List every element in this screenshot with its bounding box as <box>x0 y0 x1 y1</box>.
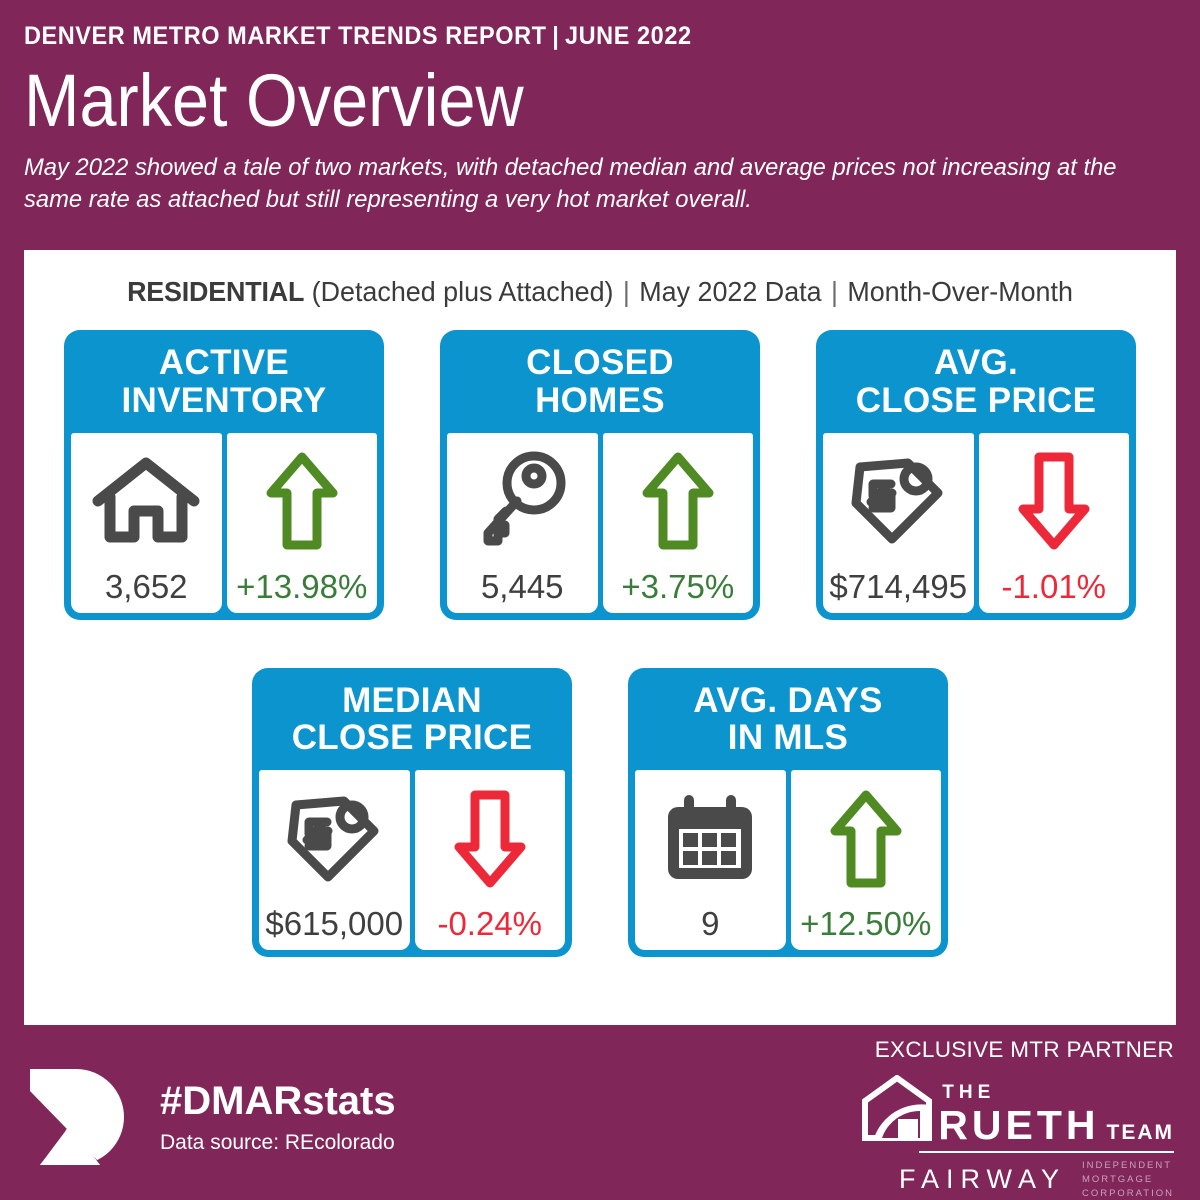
panel-heading-comparison: Month-Over-Month <box>847 276 1073 307</box>
rueth-name-label: RUETH <box>938 1105 1099 1146</box>
page-subtitle: May 2022 showed a tale of two markets, w… <box>24 152 1125 217</box>
card-value-cell: 9 <box>635 770 786 950</box>
kicker-separator: | <box>547 22 565 51</box>
card-trend-cell: +13.98% <box>227 433 378 613</box>
card-change: -1.01% <box>1001 570 1106 607</box>
rueth-wordmark: THE RUETH TEAM <box>938 1083 1174 1146</box>
fairway-subtitle-line-1: INDEPENDENT <box>1082 1159 1174 1173</box>
report-header: DENVER METRO MARKET TRENDS REPORT|JUNE 2… <box>0 0 1200 216</box>
card-title-line-1: AVG. <box>826 344 1126 382</box>
rueth-logo-top: THE RUETH TEAM <box>860 1075 1174 1146</box>
arrow-down-icon <box>979 433 1130 570</box>
card-title-line-2: CLOSE PRICE <box>262 719 562 757</box>
card-title-line-1: MEDIAN <box>262 682 562 720</box>
card-title-line-1: AVG. DAYS <box>638 682 938 720</box>
rueth-divider <box>919 1151 1174 1153</box>
fairway-subtitle-line-2: MORTGAGE <box>1082 1173 1174 1187</box>
report-kicker: DENVER METRO MARKET TRENDS REPORT|JUNE 2… <box>24 22 1107 51</box>
panel-heading-separator-2: | <box>829 276 840 307</box>
stat-card-avg-close-price[interactable]: AVG. CLOSE PRICE <box>816 330 1136 620</box>
card-value: 3,652 <box>105 570 188 607</box>
rueth-the-label: THE <box>942 1083 995 1102</box>
card-title: ACTIVE INVENTORY <box>64 330 384 433</box>
footer-text-block: #DMARstats Data source: REcolorado <box>160 1081 396 1153</box>
arrow-down-icon <box>415 770 566 907</box>
house-icon <box>71 433 222 570</box>
card-trend-cell: +12.50% <box>791 770 942 950</box>
stat-card-grid: ACTIVE INVENTORY 3,652 <box>24 330 1176 957</box>
fairway-row: FAIRWAY INDEPENDENT MORTGAGE CORPORATION <box>899 1159 1174 1200</box>
card-title-line-2: HOMES <box>450 382 750 420</box>
panel-heading-separator-1: | <box>621 276 632 307</box>
footer-partner: EXCLUSIVE MTR PARTNER THE RUETH TEAM <box>860 1037 1174 1200</box>
stat-card-closed-homes[interactable]: CLOSED HOMES <box>440 330 760 620</box>
card-title-line-2: CLOSE PRICE <box>826 382 1126 420</box>
card-change: -0.24% <box>437 907 542 944</box>
arrow-up-icon <box>791 770 942 907</box>
fairway-label: FAIRWAY <box>899 1164 1066 1195</box>
calendar-icon <box>635 770 786 907</box>
rueth-main-row: RUETH TEAM <box>938 1105 1174 1146</box>
card-title-line-1: CLOSED <box>450 344 750 382</box>
stat-card-avg-days-in-mls[interactable]: AVG. DAYS IN MLS <box>628 668 948 958</box>
card-title: CLOSED HOMES <box>440 330 760 433</box>
card-value-cell: $714,495 <box>823 433 974 613</box>
stat-card-row-1: ACTIVE INVENTORY 3,652 <box>24 330 1176 620</box>
data-source-label: Data source: REcolorado <box>160 1132 396 1153</box>
card-title: AVG. CLOSE PRICE <box>816 330 1136 433</box>
card-value: $714,495 <box>829 570 967 607</box>
panel-heading: RESIDENTIAL (Detached plus Attached) | M… <box>47 250 1153 308</box>
panel-heading-scope: (Detached plus Attached) <box>312 276 614 307</box>
card-trend-cell: +3.75% <box>603 433 754 613</box>
card-title: MEDIAN CLOSE PRICE <box>252 668 572 771</box>
hashtag-label: #DMARstats <box>160 1081 396 1121</box>
key-icon <box>447 433 598 570</box>
kicker-issue-date: JUNE 2022 <box>565 22 692 50</box>
stat-card-median-close-price[interactable]: MEDIAN CLOSE PRICE <box>252 668 572 958</box>
card-value-cell: $615,000 <box>259 770 410 950</box>
dmar-logo-icon <box>24 1061 136 1173</box>
price-tag-dollar-icon <box>259 770 410 907</box>
panel-heading-period: May 2022 Data <box>639 276 821 307</box>
stats-panel: RESIDENTIAL (Detached plus Attached) | M… <box>24 250 1176 1025</box>
card-title-line-2: INVENTORY <box>74 382 374 420</box>
card-trend-cell: -0.24% <box>415 770 566 950</box>
card-body: 9 +12.50% <box>635 770 941 950</box>
card-value-cell: 5,445 <box>447 433 598 613</box>
card-title-line-1: ACTIVE <box>74 344 374 382</box>
page-title: Market Overview <box>24 65 1061 138</box>
kicker-report-name: DENVER METRO MARKET TRENDS REPORT <box>24 22 547 50</box>
card-title-line-2: IN MLS <box>638 719 938 757</box>
card-change: +12.50% <box>800 907 931 944</box>
partner-label: EXCLUSIVE MTR PARTNER <box>860 1037 1174 1063</box>
card-change: +13.98% <box>236 570 367 607</box>
report-footer: #DMARstats Data source: REcolorado EXCLU… <box>0 1025 1200 1200</box>
fairway-subtitle: INDEPENDENT MORTGAGE CORPORATION <box>1082 1159 1174 1200</box>
rueth-team-label: TEAM <box>1107 1122 1175 1143</box>
card-value: 9 <box>701 907 719 944</box>
card-trend-cell: -1.01% <box>979 433 1130 613</box>
arrow-up-icon <box>227 433 378 570</box>
arrow-up-icon <box>603 433 754 570</box>
card-body: $714,495 -1.01% <box>823 433 1129 613</box>
card-body: 3,652 +13.98% <box>71 433 377 613</box>
card-value: $615,000 <box>265 907 403 944</box>
stat-card-row-2: MEDIAN CLOSE PRICE <box>24 668 1176 958</box>
card-body: 5,445 +3.75% <box>447 433 753 613</box>
card-change: +3.75% <box>621 570 734 607</box>
card-body: $615,000 -0.24% <box>259 770 565 950</box>
fairway-subtitle-line-3: CORPORATION <box>1082 1187 1174 1200</box>
rueth-team-logo: THE RUETH TEAM FAIRWAY INDEPENDENT MORTG… <box>860 1075 1174 1200</box>
footer-branding: #DMARstats Data source: REcolorado <box>24 1061 396 1173</box>
rueth-house-icon <box>860 1075 934 1146</box>
price-tag-dollar-icon <box>823 433 974 570</box>
card-value: 5,445 <box>481 570 564 607</box>
card-title: AVG. DAYS IN MLS <box>628 668 948 771</box>
stat-card-active-inventory[interactable]: ACTIVE INVENTORY 3,652 <box>64 330 384 620</box>
card-value-cell: 3,652 <box>71 433 222 613</box>
panel-heading-category: RESIDENTIAL <box>127 276 304 307</box>
